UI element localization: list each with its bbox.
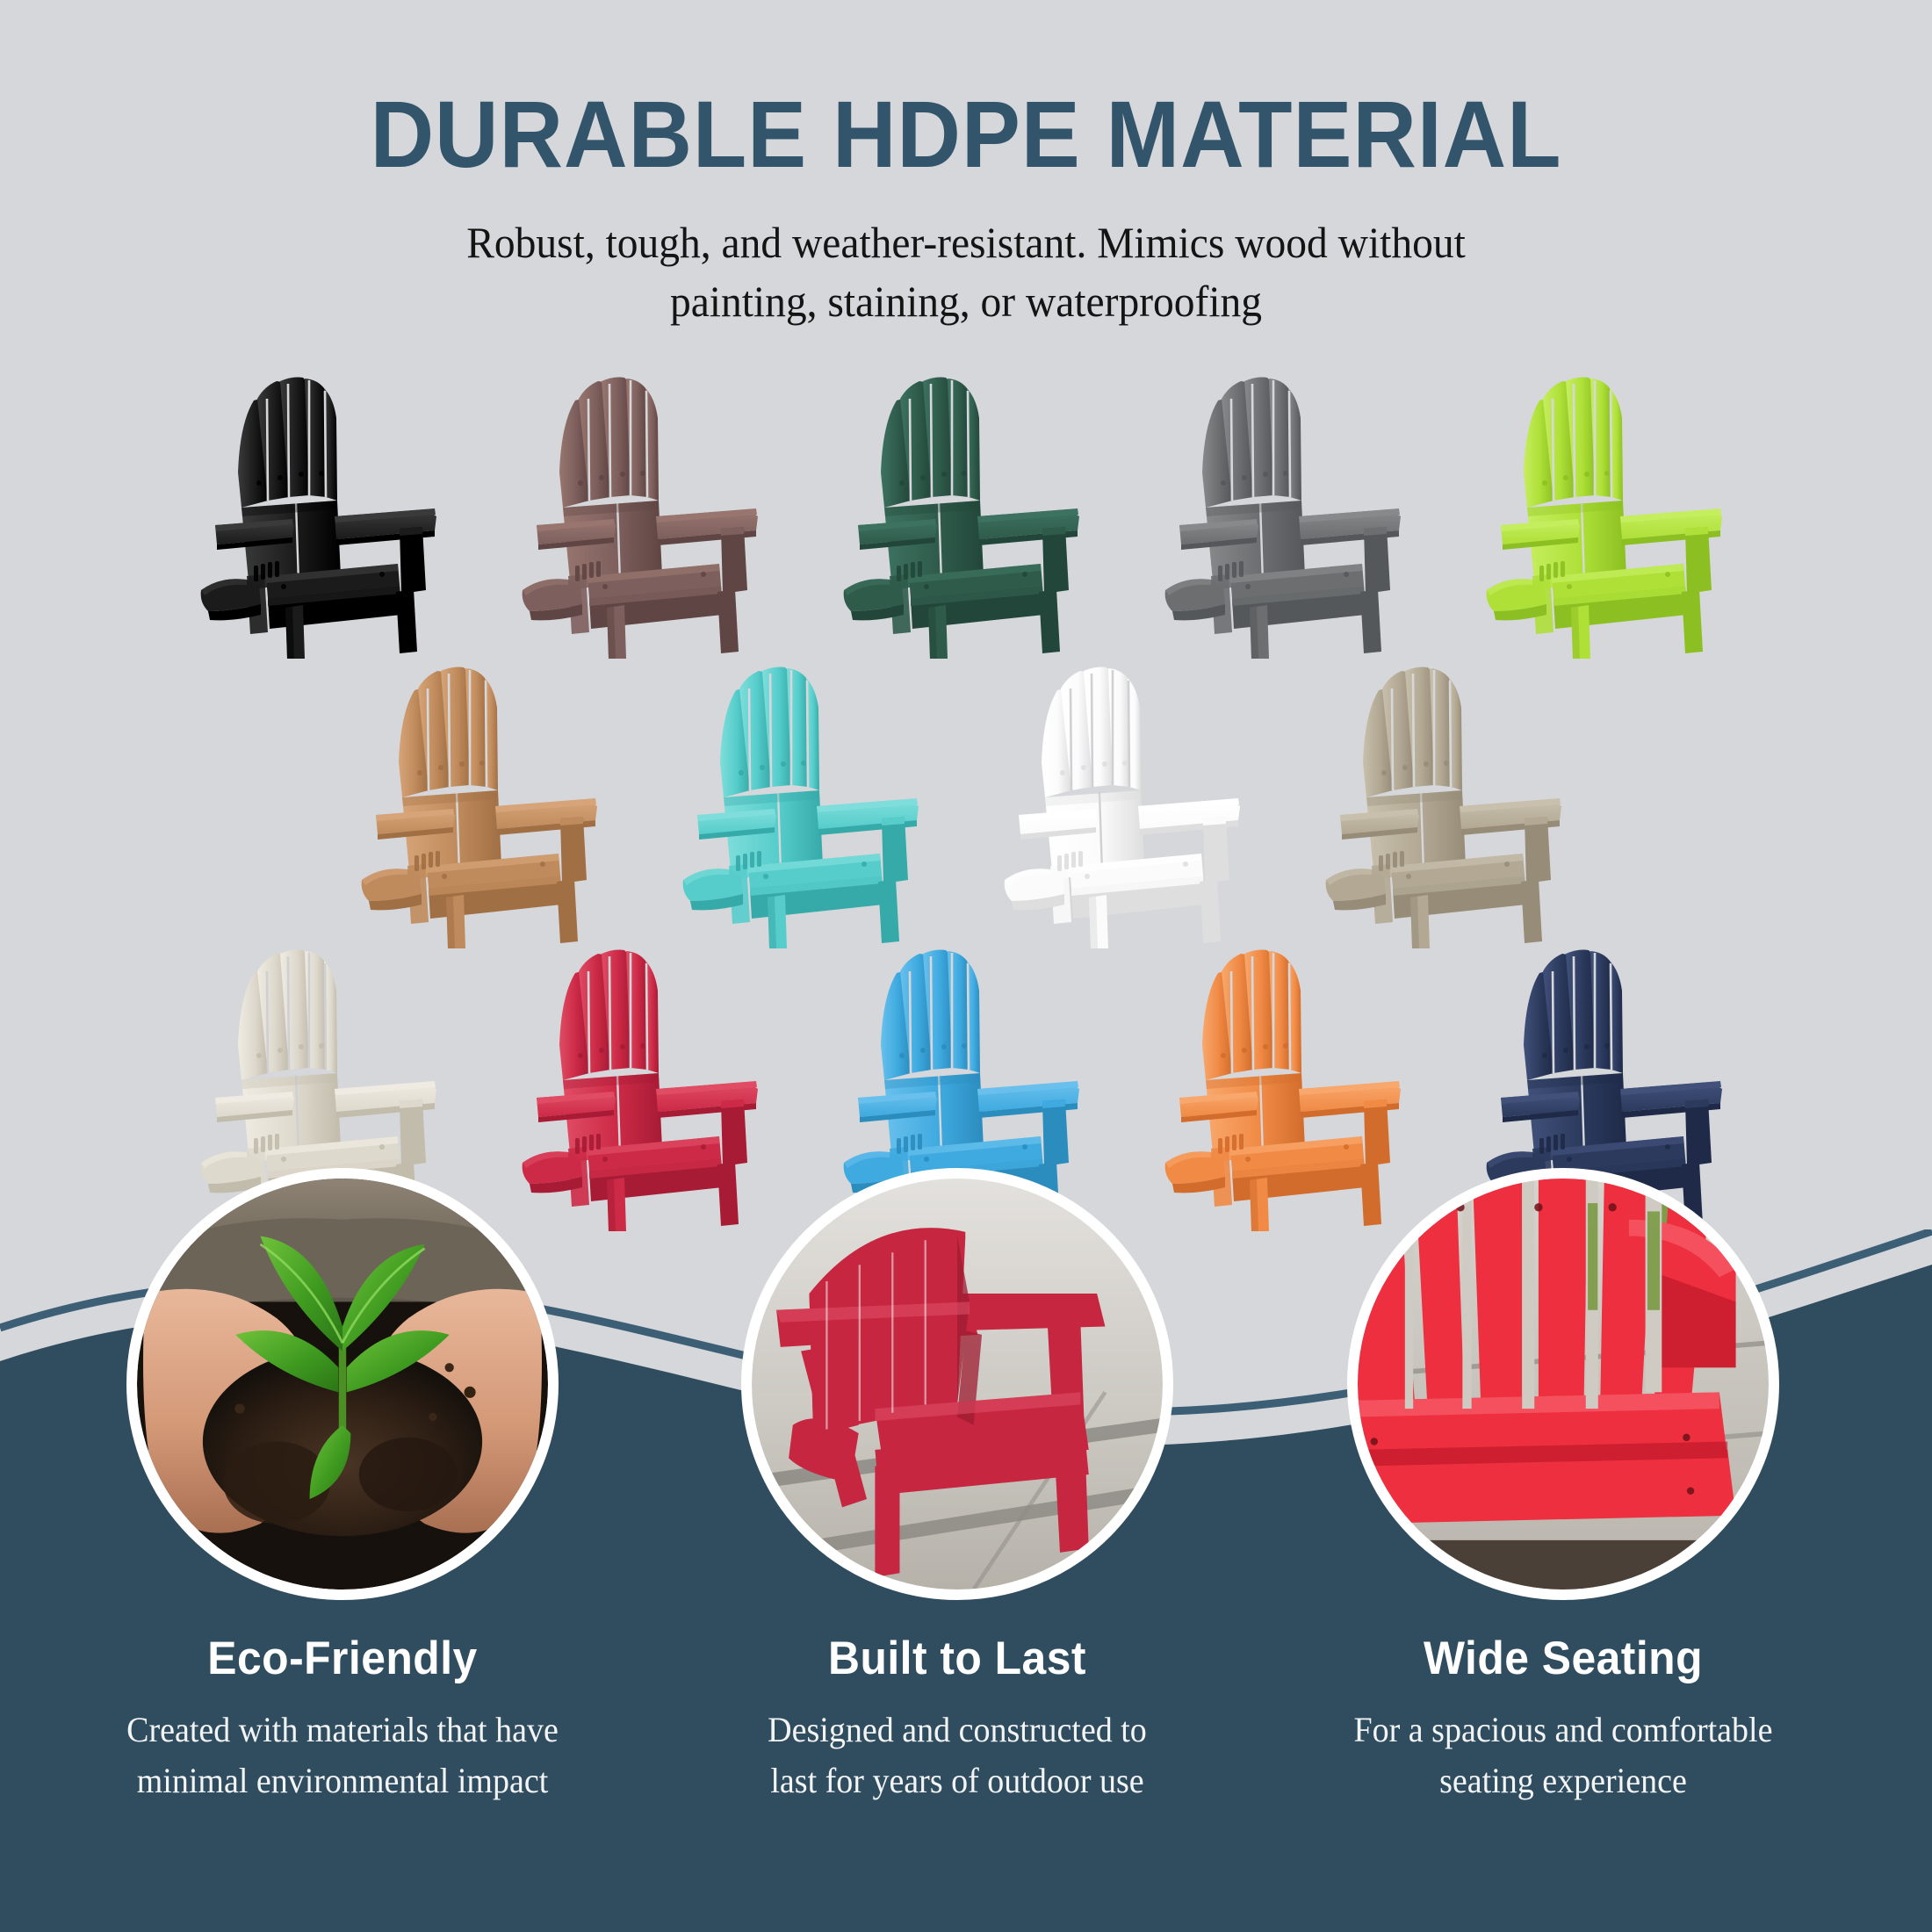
- feature-eco-friendly: Eco-Friendly Created with materials that…: [97, 1168, 588, 1806]
- chair-row-2: [0, 659, 1932, 948]
- feature-wide-seating: Wide Seating For a spacious and comforta…: [1317, 1168, 1809, 1806]
- chair-illustration: [805, 369, 1127, 659]
- adirondack-chair-icon: [966, 659, 1287, 948]
- red-chair-patio-photo: [752, 1179, 1163, 1590]
- built-to-last-photo-ring: [741, 1168, 1173, 1600]
- feature-desc-line-1: Created with materials that have: [112, 1705, 573, 1755]
- feature-desc-line-1: For a spacious and comfortable: [1333, 1705, 1793, 1755]
- wide-seat-closeup-photo: [1358, 1179, 1769, 1590]
- page-title: DURABLE HDPE MATERIAL: [68, 84, 1864, 184]
- subtitle-line-2: painting, staining, or waterproofing: [315, 272, 1617, 331]
- adirondack-chair-icon: [1448, 369, 1770, 659]
- chair-illustration: [645, 659, 966, 948]
- feature-list: Eco-Friendly Created with materials that…: [0, 1168, 1932, 1932]
- chair-swatch-dark-green[interactable]: [805, 369, 1127, 659]
- chair-swatch-gray[interactable]: [1127, 369, 1448, 659]
- feature-title: Built to Last: [726, 1632, 1188, 1685]
- chair-swatch-khaki[interactable]: [1287, 659, 1609, 948]
- eco-friendly-photo-ring: [126, 1168, 559, 1600]
- chair-illustration: [323, 659, 645, 948]
- chair-swatch-lime-green[interactable]: [1448, 369, 1770, 659]
- feature-desc-line-2: seating experience: [1333, 1755, 1793, 1806]
- adirondack-chair-icon: [645, 659, 966, 948]
- adirondack-chair-icon: [1127, 369, 1448, 659]
- seedling-in-hands-photo: [137, 1179, 548, 1590]
- chair-illustration: [1448, 369, 1770, 659]
- chair-swatch-teak[interactable]: [323, 659, 645, 948]
- feature-description: Created with materials that have minimal…: [109, 1705, 576, 1806]
- chair-illustration: [1127, 369, 1448, 659]
- chair-swatch-black[interactable]: [162, 369, 484, 659]
- infographic-canvas: DURABLE HDPE MATERIAL Robust, tough, and…: [0, 0, 1932, 1932]
- chair-color-grid: [0, 351, 1932, 1229]
- adirondack-chair-icon: [162, 369, 484, 659]
- adirondack-chair-icon: [323, 659, 645, 948]
- header: DURABLE HDPE MATERIAL Robust, tough, and…: [0, 84, 1932, 331]
- adirondack-chair-icon: [805, 369, 1127, 659]
- subtitle-line-1: Robust, tough, and weather-resistant. Mi…: [315, 213, 1617, 272]
- chair-illustration: [162, 369, 484, 659]
- adirondack-chair-icon: [484, 369, 805, 659]
- page-subtitle: Robust, tough, and weather-resistant. Mi…: [315, 213, 1617, 331]
- feature-description: Designed and constructed to last for yea…: [724, 1705, 1191, 1806]
- chair-swatch-white[interactable]: [966, 659, 1287, 948]
- chair-row-1: [0, 369, 1932, 659]
- feature-desc-line-2: minimal environmental impact: [112, 1755, 573, 1806]
- adirondack-chair-icon: [1287, 659, 1609, 948]
- chair-swatch-turquoise[interactable]: [645, 659, 966, 948]
- feature-built-to-last: Built to Last Designed and constructed t…: [711, 1168, 1203, 1806]
- chair-illustration: [966, 659, 1287, 948]
- chair-illustration: [484, 369, 805, 659]
- wide-seating-photo-ring: [1347, 1168, 1779, 1600]
- chair-swatch-mauve-brown[interactable]: [484, 369, 805, 659]
- feature-title: Wide Seating: [1332, 1632, 1794, 1685]
- feature-description: For a spacious and comfortable seating e…: [1330, 1705, 1797, 1806]
- chair-illustration: [1287, 659, 1609, 948]
- feature-desc-line-1: Designed and constructed to: [727, 1705, 1187, 1755]
- feature-desc-line-2: last for years of outdoor use: [727, 1755, 1187, 1806]
- feature-title: Eco-Friendly: [112, 1632, 573, 1685]
